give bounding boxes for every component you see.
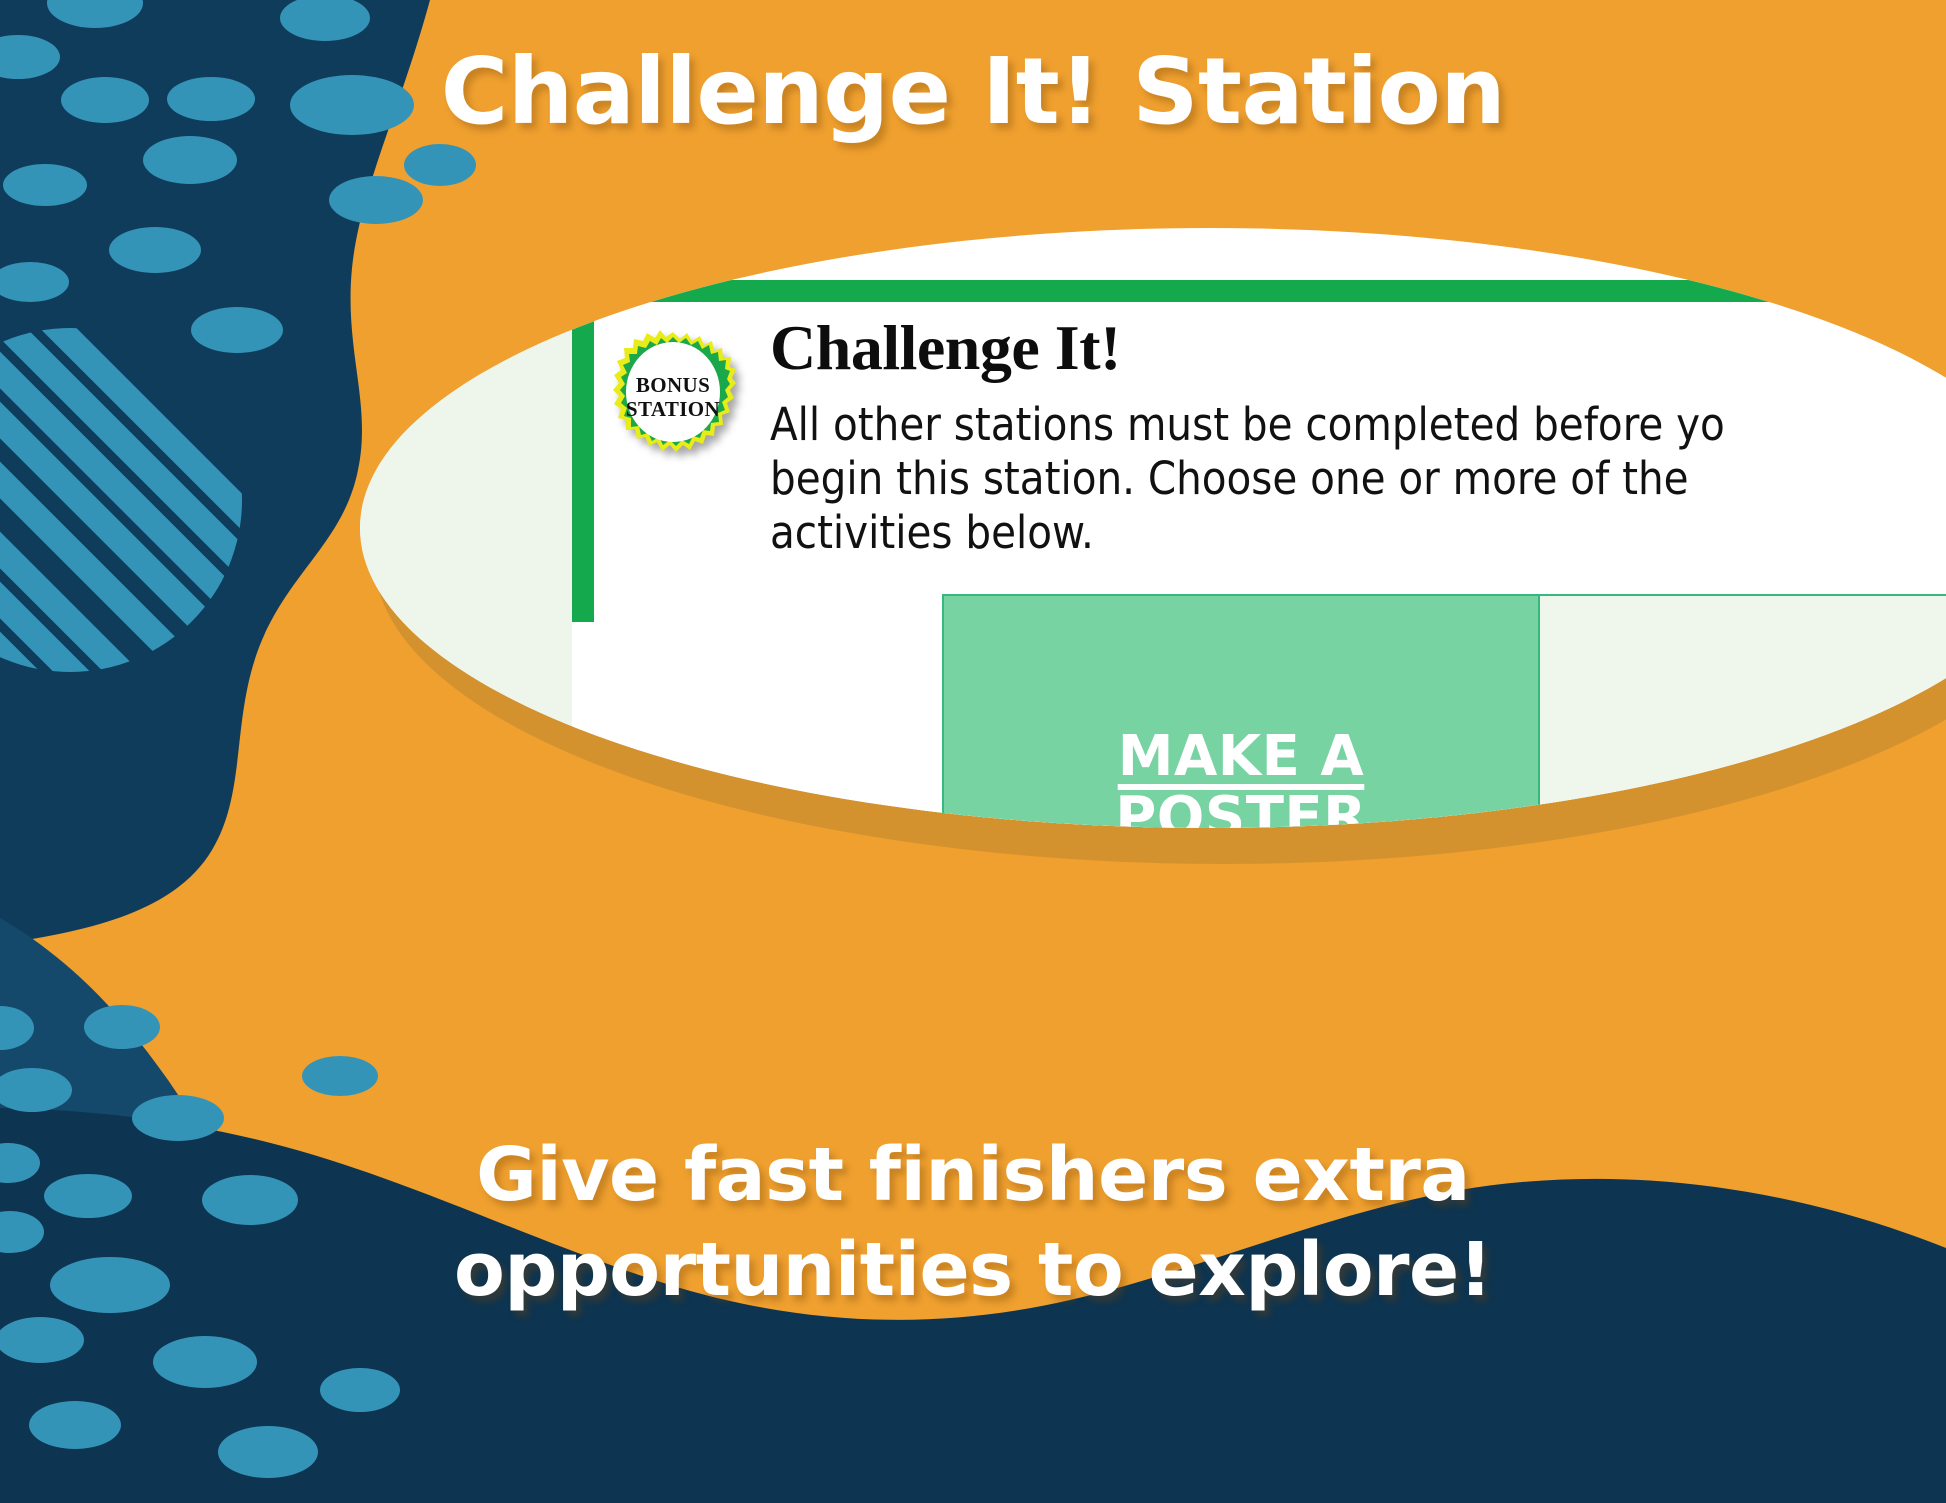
worksheet-body-line: All other stations must be completed bef… <box>770 398 1946 452</box>
worksheet-screenshot: BONUS STATION Challenge It! All other st… <box>572 280 1946 828</box>
activity-label[interactable]: MAKE A POSTER <box>1115 727 1367 828</box>
badge-line-2: STATION <box>626 398 720 422</box>
caption-line-1: Give fast finishers extra <box>0 1128 1946 1223</box>
caption-line-2: opportunities to explore! <box>0 1223 1946 1318</box>
activity-label-line-1: ACROSTIC <box>1690 785 1946 828</box>
activity-label-line-1: MAKE A <box>1118 724 1365 789</box>
worksheet-oval-card: BONUS STATION Challenge It! All other st… <box>360 228 1946 858</box>
badge-text-block: BONUS STATION <box>610 330 736 466</box>
worksheet-green-left-border <box>572 280 594 622</box>
page-title: Challenge It! Station <box>0 44 1946 141</box>
striped-circle <box>0 320 370 830</box>
worksheet-body-text: All other stations must be completed bef… <box>770 398 1946 560</box>
activity-label[interactable]: ACROSTIC <box>1690 788 1946 828</box>
worksheet-green-top-border <box>572 280 1946 302</box>
worksheet-heading: Challenge It! <box>770 316 1121 380</box>
worksheet-body-line: begin this station. Choose one or more o… <box>770 452 1946 506</box>
worksheet-content: BONUS STATION Challenge It! All other st… <box>594 302 1946 828</box>
worksheet-body-line: activities below. <box>770 506 1946 560</box>
activity-cell-acrostic[interactable]: ACROSTIC <box>1540 594 1946 828</box>
badge-line-1: BONUS <box>636 374 710 398</box>
activity-label-line-2: POSTER <box>1115 785 1367 828</box>
oval-clip: BONUS STATION Challenge It! All other st… <box>360 228 1946 828</box>
bonus-station-badge: BONUS STATION <box>610 330 736 466</box>
activity-cell-make-a-poster[interactable]: MAKE A POSTER <box>942 594 1540 828</box>
page-caption: Give fast finishers extra opportunities … <box>0 1128 1946 1317</box>
activity-table: MAKE A POSTER ACROSTIC <box>942 594 1946 828</box>
